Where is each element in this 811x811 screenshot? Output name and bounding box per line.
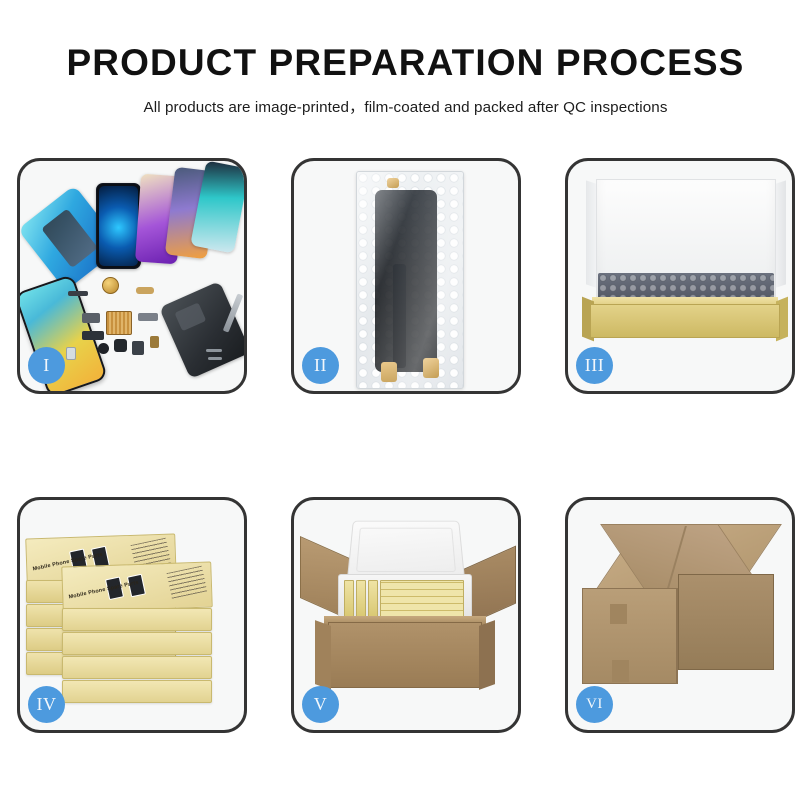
yellow-box-icon [356, 580, 366, 618]
small-part-icon [98, 343, 109, 354]
step-badge-5: V [302, 686, 339, 723]
small-part-icon [150, 336, 159, 348]
step-badge-3: III [576, 347, 613, 384]
box-print-text-lines [167, 566, 208, 599]
small-part-icon [68, 291, 88, 296]
yellow-box-icon [344, 580, 354, 618]
gold-coil-icon [102, 277, 119, 294]
process-step-5: V [291, 497, 521, 733]
small-part-icon [136, 287, 154, 294]
step-badge-1: I [28, 347, 65, 384]
yellow-box-row-icon [380, 580, 464, 618]
plastic-sheen-overlay [357, 172, 463, 388]
small-part-icon [206, 349, 222, 352]
retail-box-top-icon: Mobile Phone Spare Parts [61, 561, 213, 612]
step-badge-4: IV [28, 686, 65, 723]
process-step-1: I [17, 158, 247, 394]
small-part-icon [138, 313, 158, 321]
carton-tape-icon [610, 604, 627, 624]
bubble-wrap-bag-icon [356, 171, 464, 389]
chip-connector-icon [106, 311, 132, 335]
retail-box-icon [62, 656, 212, 679]
process-step-grid: I II [17, 158, 795, 734]
retail-box-icon [62, 608, 212, 631]
small-part-icon [132, 341, 144, 355]
foam-lid-icon [347, 521, 465, 581]
small-part-icon [208, 357, 222, 360]
carton-body-icon [328, 622, 482, 688]
yellow-box-icon [368, 580, 378, 618]
black-phone-screen-icon [96, 183, 141, 269]
carton-side-face [678, 574, 774, 670]
retail-box-icon [62, 680, 212, 703]
process-step-6: VI [565, 497, 795, 733]
carton-front-face [582, 588, 678, 684]
retail-box-label: Mobile Phone Spare Parts [68, 580, 139, 601]
carton-tape-icon [612, 660, 629, 682]
small-part-icon [114, 339, 127, 352]
kraft-tray-front-icon [590, 304, 780, 338]
step-badge-6: VI [576, 686, 613, 723]
product-preparation-infographic: PRODUCT PREPARATION PROCESS All products… [0, 0, 811, 811]
process-step-4: Mobile Phone Spare Parts Mobile Phone Sp… [17, 497, 247, 733]
small-part-icon [82, 331, 104, 340]
process-step-3: III [565, 158, 795, 394]
page-subtitle: All products are image-printed，film-coat… [143, 95, 667, 117]
phone-back-housing-icon [159, 281, 247, 379]
page-title: PRODUCT PREPARATION PROCESS [67, 44, 745, 81]
retail-box-icon [62, 632, 212, 655]
small-part-icon [66, 347, 76, 360]
step-badge-2: II [302, 347, 339, 384]
small-part-icon [82, 313, 100, 323]
process-step-2: II [291, 158, 521, 394]
header: PRODUCT PREPARATION PROCESS All products… [0, 0, 811, 140]
